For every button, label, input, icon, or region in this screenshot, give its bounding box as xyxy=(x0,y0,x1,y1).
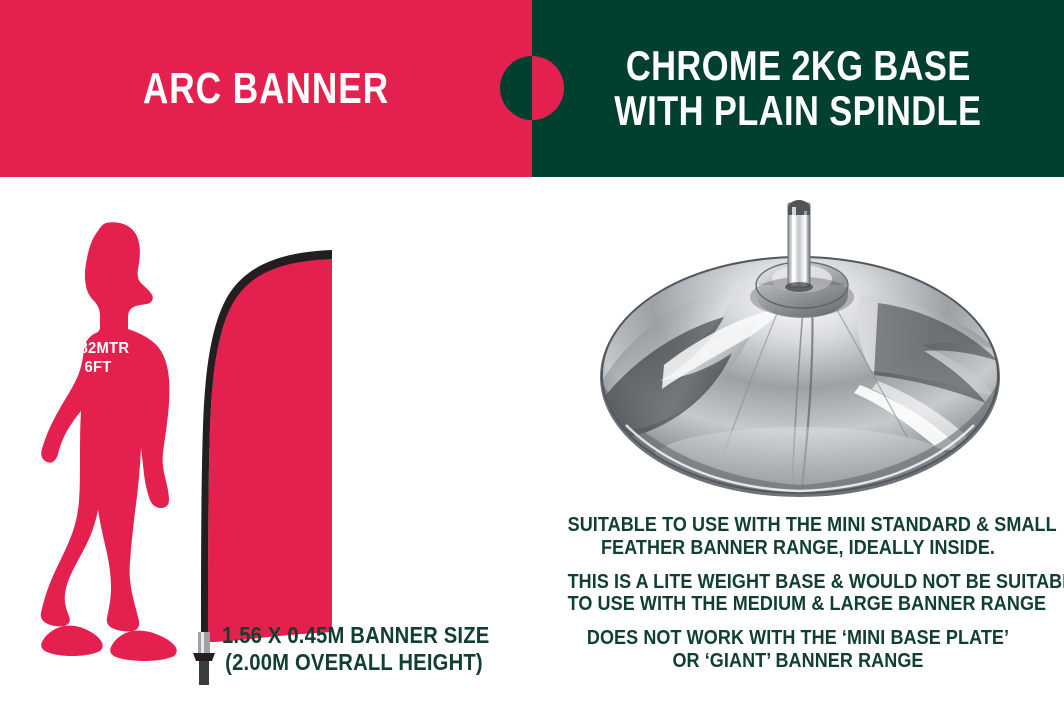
usage-note-2-line2: TO USE WITH THE MEDIUM & LARGE BANNER RA… xyxy=(568,593,1029,616)
banner-size-caption: 1.56 X 0.45M BANNER SIZE (2.00M OVERALL … xyxy=(222,622,486,676)
chrome-base-product-image xyxy=(560,185,1040,505)
header-right-title: CHROME 2KG BASE WITH PLAIN SPINDLE xyxy=(532,0,1064,177)
split-circle-left-half xyxy=(500,56,532,120)
usage-note-3: DOES NOT WORK WITH THE ‘MINI BASE PLATE’… xyxy=(568,627,1029,673)
usage-note-1-line1: SUITABLE TO USE WITH THE MINI STANDARD &… xyxy=(568,514,1029,537)
person-height-imperial: 6FT xyxy=(43,359,153,378)
usage-note-2-line1: THIS IS A LITE WEIGHT BASE & WOULD NOT B… xyxy=(568,571,1029,594)
usage-notes: SUITABLE TO USE WITH THE MINI STANDARD &… xyxy=(542,514,1054,673)
banner-size-line2: (2.00M OVERALL HEIGHT) xyxy=(222,649,486,676)
product-spec-sheet: ARC BANNER CHROME 2KG BASE WITH PLAIN SP… xyxy=(0,0,1064,710)
header-right-title-line2: WITH PLAIN SPINDLE xyxy=(614,89,981,134)
usage-note-3-line2: OR ‘GIANT’ BANNER RANGE xyxy=(568,650,1029,673)
usage-note-2: THIS IS A LITE WEIGHT BASE & WOULD NOT B… xyxy=(568,571,1029,617)
person-height-metric: 1.82MTR xyxy=(43,340,153,359)
person-silhouette-icon xyxy=(28,217,198,677)
left-content-panel: 1.82MTR 6FT 1.56 X 0.45M BANNER SIZE (2.… xyxy=(0,177,532,710)
usage-note-1: SUITABLE TO USE WITH THE MINI STANDARD &… xyxy=(568,514,1029,560)
right-content-panel: SUITABLE TO USE WITH THE MINI STANDARD &… xyxy=(532,177,1064,710)
usage-note-1-line2: FEATHER BANNER RANGE, IDEALLY INSIDE. xyxy=(568,537,1029,560)
header-bar: ARC BANNER CHROME 2KG BASE WITH PLAIN SP… xyxy=(0,0,1064,177)
header-right-title-line1: CHROME 2KG BASE xyxy=(626,44,971,89)
split-circle-right-half xyxy=(532,56,564,120)
banner-size-line1: 1.56 X 0.45M BANNER SIZE xyxy=(222,622,486,649)
arc-banner-flag-icon xyxy=(180,187,360,687)
usage-note-3-line1: DOES NOT WORK WITH THE ‘MINI BASE PLATE’ xyxy=(568,627,1029,650)
header-left-title: ARC BANNER xyxy=(53,0,479,177)
person-height-label: 1.82MTR 6FT xyxy=(43,340,153,377)
split-circle-divider-icon xyxy=(500,56,564,120)
